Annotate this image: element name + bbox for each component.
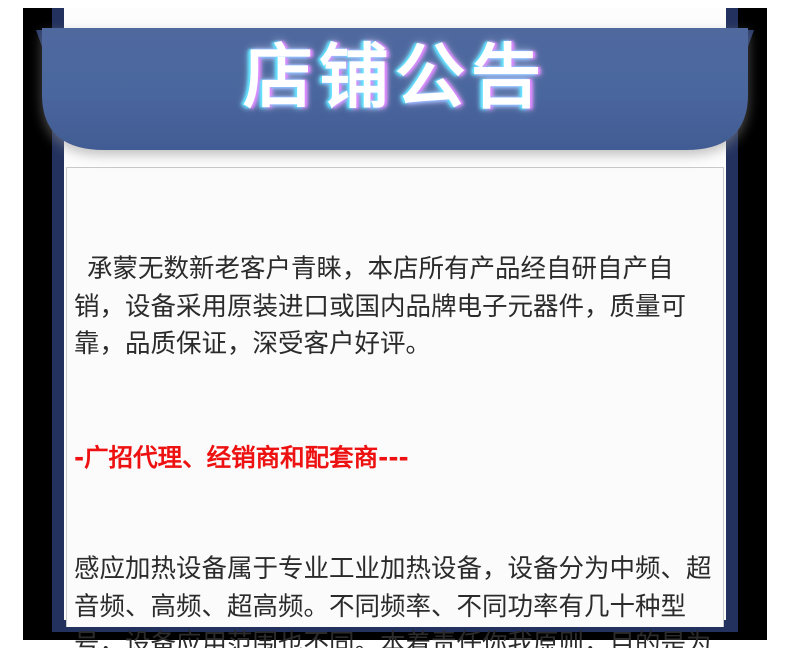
- paragraph-intro: 承蒙无数新老客户青睐，本店所有产品经自研自产自销，设备采用原装进口或国内品牌电子…: [74, 251, 722, 364]
- paragraph-recruit: -广招代理、经销商和配套商---: [74, 439, 722, 477]
- store-announcement-poster: 店铺公告 承蒙无数新老客户青睐，本店所有产品经自研自产自销，设备采用原装进口或国…: [0, 0, 790, 648]
- ribbon-face: [42, 28, 748, 150]
- announcement-body: 承蒙无数新老客户青睐，本店所有产品经自研自产自销，设备采用原装进口或国内品牌电子…: [74, 176, 722, 648]
- ribbon-banner: [0, 12, 790, 170]
- paragraph-equipment: 感应加热设备属于专业工业加热设备，设备分为中频、超音频、高频、超高频。不同频率、…: [74, 551, 722, 648]
